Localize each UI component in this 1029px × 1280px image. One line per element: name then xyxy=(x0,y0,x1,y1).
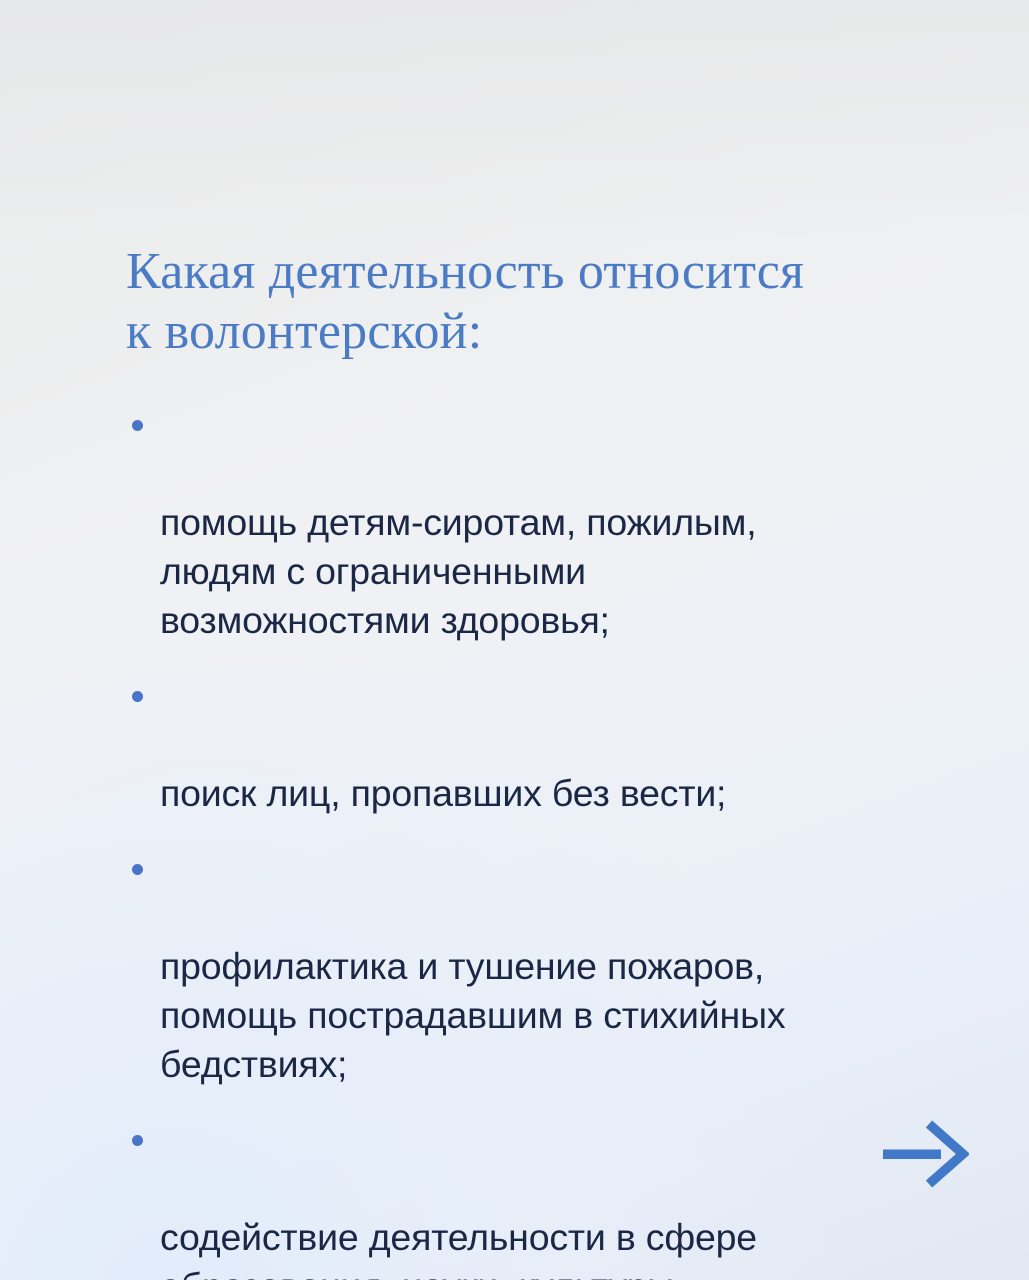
bullet-dot-icon xyxy=(132,691,143,702)
next-slide-button[interactable] xyxy=(881,1118,969,1190)
list-item-label: помощь детям-сиротам, пожилым, людям с о… xyxy=(160,501,756,641)
bullet-dot-icon xyxy=(132,1135,143,1146)
bullet-dot-icon xyxy=(132,864,143,875)
list-item: профилактика и тушение пожаров, помощь п… xyxy=(126,844,986,1089)
list-item: содействие деятельности в сфере образова… xyxy=(126,1115,986,1280)
volunteer-activities-list: помощь детям-сиротам, пожилым, людям с о… xyxy=(126,400,986,1280)
list-item: помощь детям-сиротам, пожилым, людям с о… xyxy=(126,400,986,645)
slide-canvas: Какая деятельность относится к волонтерс… xyxy=(0,0,1029,1280)
list-item-label: поиск лиц, пропавших без вести; xyxy=(160,772,726,814)
bullet-dot-icon xyxy=(132,420,143,431)
list-item-label: содействие деятельности в сфере образова… xyxy=(160,1216,831,1280)
list-item: поиск лиц, пропавших без вести; xyxy=(126,671,986,818)
arrow-right-icon xyxy=(881,1118,969,1190)
list-item-label: профилактика и тушение пожаров, помощь п… xyxy=(160,945,785,1085)
page-title: Какая деятельность относится к волонтерс… xyxy=(126,242,976,363)
